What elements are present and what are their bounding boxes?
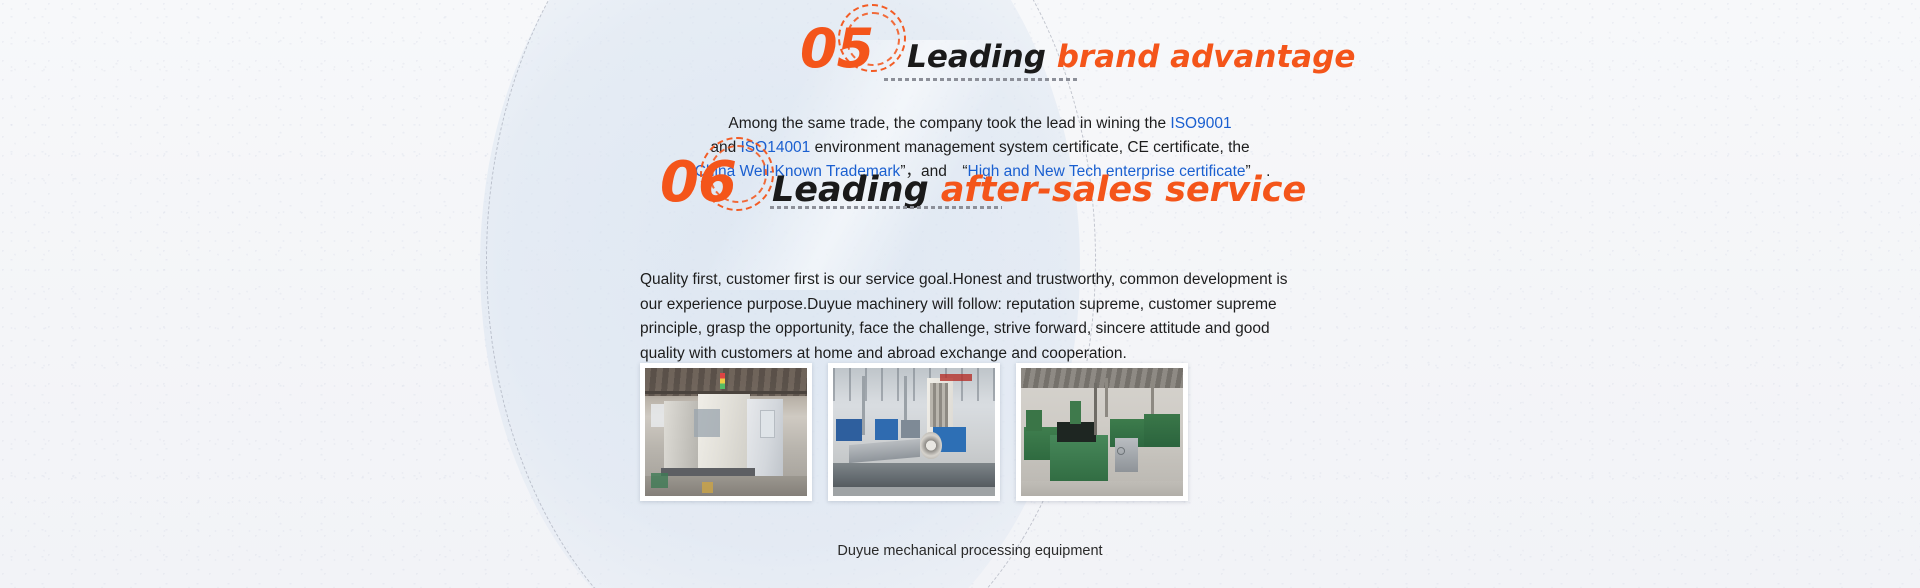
equipment-photo-gallery	[640, 363, 1188, 501]
equipment-photo-3[interactable]	[1016, 363, 1188, 501]
section-06-paragraph: Quality first, customer first is our ser…	[640, 268, 1300, 366]
photo-2-guide-rods	[930, 383, 948, 427]
section-06-number-badge: 06	[660, 155, 736, 211]
section-05-title-accent: brand advantage	[1057, 39, 1356, 75]
photo-2-banner	[940, 374, 972, 380]
highlighted-term: ISO9001	[1170, 115, 1231, 132]
photo-3-machine-arm	[1070, 401, 1081, 424]
section-05-paragraph-line-1: Among the same trade, the company took t…	[600, 112, 1360, 136]
photo-2-machine-bed	[833, 463, 995, 489]
section-06-title-accent: after-sales service	[941, 170, 1306, 210]
photo-2-chuck	[920, 432, 941, 459]
section-05-title-lead: Leading	[907, 39, 1046, 75]
section-06-title-lead: Leading	[772, 170, 929, 210]
paragraph-text: environment management system certificat…	[810, 139, 1249, 156]
section-05-number: 05	[800, 17, 873, 80]
photo-1-toolbox	[702, 482, 713, 494]
photo-3-floor	[1021, 481, 1183, 496]
section-06-title: Leading after-sales service	[772, 170, 1306, 210]
page-root: 05 Leading brand advantage Among the sam…	[0, 0, 1920, 588]
photo-3-roof	[1021, 368, 1183, 388]
photo-1-drum	[651, 473, 667, 488]
photo-3-post-left	[1105, 378, 1108, 416]
photo-3-control-cabinet	[1115, 438, 1138, 471]
section-06-number: 06	[660, 150, 736, 215]
photo-2-truck-b	[875, 419, 898, 439]
photo-1-floor	[645, 476, 807, 496]
equipment-photo-2[interactable]	[828, 363, 1000, 501]
photo-3-green-machine-1-head	[1026, 410, 1042, 430]
section-06-divider	[770, 206, 1002, 209]
photo-2-pillar-left	[862, 376, 865, 435]
section-05-divider	[884, 78, 1080, 81]
paragraph-text: Among the same trade, the company took t…	[728, 115, 1170, 132]
equipment-photo-1[interactable]	[640, 363, 812, 501]
section-05-heading: 05 Leading brand advantage	[800, 22, 1355, 76]
photo-3-green-machine-4	[1144, 414, 1180, 447]
gallery-caption: Duyue mechanical processing equipment	[640, 543, 1300, 559]
photo-3-black-fixture	[1057, 422, 1096, 442]
photo-1-control-panel	[694, 409, 720, 437]
section-06-heading: 06 Leading after-sales service	[660, 155, 1306, 211]
photo-1-signal-lamp	[720, 373, 725, 389]
photo-2-roof-truss	[833, 368, 995, 401]
photo-2-floor	[833, 487, 995, 496]
photo-1-access-door	[760, 410, 775, 438]
photo-3-post-right	[1151, 378, 1154, 414]
section-05-title: Leading brand advantage	[907, 39, 1355, 75]
photo-3-cabinet-dial	[1117, 447, 1125, 455]
section-05-number-badge: 05	[800, 22, 873, 76]
photo-2-truck-a	[836, 419, 862, 441]
photo-3-hose	[1094, 383, 1097, 434]
photo-2-truck-c	[901, 420, 920, 438]
